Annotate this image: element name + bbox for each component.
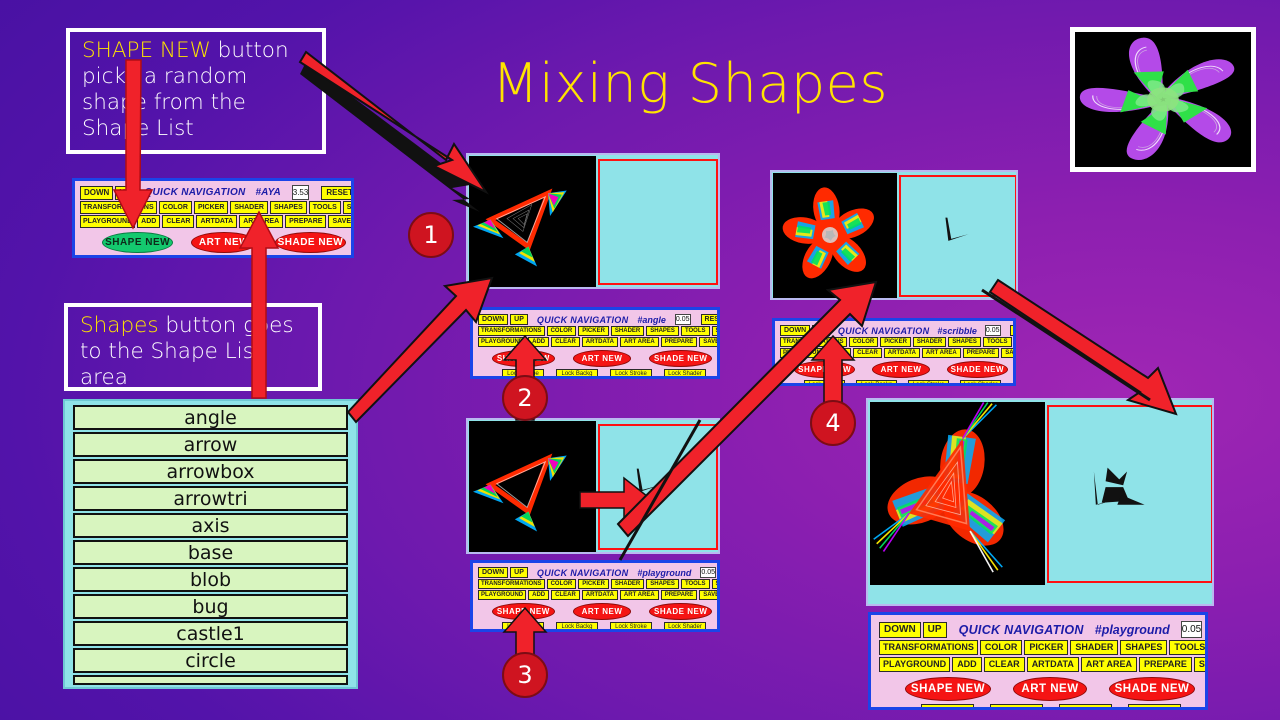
down-button[interactable]: DOWN <box>80 186 113 200</box>
art-new-button[interactable]: ART NEW <box>191 232 257 253</box>
lock-stroke-button[interactable]: Lock Stroke <box>610 622 652 632</box>
lock-backg-button[interactable]: Lock Backg <box>856 380 897 386</box>
nav-artdata[interactable]: ARTDATA <box>582 337 618 347</box>
lock-shader-button[interactable]: Lock Shader <box>664 622 706 632</box>
nav-add[interactable]: ADD <box>137 215 160 228</box>
art-canvas-4-svg <box>773 173 897 300</box>
quick-navigation-row: DOWN UP QUICK NAVIGATION #scribble 0.05 … <box>780 325 1008 336</box>
panel-hashtag: #playground <box>637 568 691 578</box>
nav-color[interactable]: COLOR <box>849 337 879 347</box>
nav-shapes[interactable]: SHAPES <box>1120 640 1167 655</box>
lock-button-row: Lock Shape Lock Backg Lock Stroke Lock S… <box>80 256 346 258</box>
shape-list-item[interactable]: circle <box>73 648 348 673</box>
shape-list-item[interactable]: blob <box>73 567 348 592</box>
shape-new-button[interactable]: SHAPE NEW <box>905 677 991 701</box>
quick-navigation-row: DOWN UP QUICK NAVIGATION #AYA 3.53 RESET <box>80 185 346 200</box>
value-field[interactable]: 0.05 <box>985 325 1001 336</box>
nav-row-1: TRANSFORMATIONS COLOR PICKER SHADER SHAP… <box>780 337 1008 347</box>
nav-stage[interactable]: STAGE <box>1014 337 1017 347</box>
nav-playground[interactable]: PLAYGROUND <box>879 657 950 672</box>
step-badge-2: 2 <box>502 375 548 421</box>
nav-art-area[interactable]: ART AREA <box>620 590 659 600</box>
art-stage-4[interactable] <box>899 175 1017 297</box>
nav-save-art[interactable]: SAVE ART <box>328 215 354 228</box>
lock-backg-button[interactable]: Lock Backg <box>177 256 225 258</box>
nav-clear[interactable]: CLEAR <box>551 337 580 347</box>
lock-backg-button[interactable]: Lock Backg <box>556 369 598 379</box>
nav-artdata[interactable]: ARTDATA <box>196 215 237 228</box>
art-canvas-3[interactable] <box>469 421 596 554</box>
down-button[interactable]: DOWN <box>879 622 921 638</box>
step-badge-4: 4 <box>810 400 856 446</box>
lock-button-row: Lock Shape Lock Backg Lock Stroke Lock S… <box>879 704 1197 710</box>
art-canvas-1-svg <box>469 156 596 289</box>
art-stage-3[interactable] <box>598 424 718 550</box>
control-panel-5[interactable]: DOWN UP QUICK NAVIGATION #playground 0.0… <box>868 612 1208 710</box>
up-button[interactable]: UP <box>510 314 528 325</box>
art-panel-5[interactable] <box>866 398 1214 606</box>
nav-picker[interactable]: PICKER <box>578 579 609 589</box>
art-canvas-4[interactable] <box>773 173 897 300</box>
nav-color[interactable]: COLOR <box>980 640 1023 655</box>
art-stage-1[interactable] <box>598 159 718 285</box>
nav-picker[interactable]: PICKER <box>578 326 609 336</box>
lock-button-row: Lock Shape Lock Backg Lock Stroke Lock S… <box>478 622 712 632</box>
down-button[interactable]: DOWN <box>478 567 508 578</box>
art-stage-5-svg <box>1049 407 1211 581</box>
art-canvas-5[interactable] <box>870 402 1045 585</box>
shape-list-item[interactable]: axis <box>73 513 348 538</box>
down-button[interactable]: DOWN <box>780 325 810 336</box>
nav-transformations[interactable]: TRANSFORMATIONS <box>879 640 978 655</box>
nav-row-1: TRANSFORMATIONS COLOR PICKER SHADER SHAP… <box>879 640 1197 655</box>
nav-shapes[interactable]: SHAPES <box>270 201 307 214</box>
lock-button-row: Lock Shape Lock Backg Lock Stroke Lock S… <box>780 380 1008 386</box>
nav-clear[interactable]: CLEAR <box>984 657 1025 672</box>
art-panel-4[interactable] <box>770 170 1018 300</box>
art-stage-3-svg <box>600 426 716 548</box>
lock-stroke-button[interactable]: Lock Stroke <box>1059 704 1112 710</box>
action-button-row: SHAPE NEW ART NEW SHADE NEW <box>478 603 712 620</box>
nav-prepare[interactable]: PREPARE <box>963 348 1000 358</box>
nav-transformations[interactable]: TRANSFORMATIONS <box>80 201 157 214</box>
shape-list-item[interactable]: bug <box>73 594 348 619</box>
nav-row-2: PLAYGROUND ADD CLEAR ARTDATA ART AREA PR… <box>80 215 346 228</box>
lock-shape-button[interactable]: Lock Shape <box>921 704 974 710</box>
shade-new-button[interactable]: SHADE NEW <box>649 603 712 620</box>
up-button[interactable]: UP <box>510 567 528 578</box>
nav-tools[interactable]: TOOLS <box>309 201 341 214</box>
nav-save-art[interactable]: SAVE ART <box>699 337 720 347</box>
nav-add[interactable]: ADD <box>528 590 549 600</box>
nav-playground[interactable]: PLAYGROUND <box>780 348 828 358</box>
reset-button[interactable]: RESET <box>321 186 354 200</box>
nav-clear[interactable]: CLEAR <box>853 348 882 358</box>
shape-list-item-partial[interactable] <box>73 675 348 685</box>
nav-row-2: PLAYGROUND ADD CLEAR ARTDATA ART AREA PR… <box>780 348 1008 358</box>
value-field[interactable]: 0.05 <box>700 567 716 578</box>
quick-navigation-title: QUICK NAVIGATION <box>144 187 245 198</box>
nav-picker[interactable]: PICKER <box>880 337 911 347</box>
lock-shape-button[interactable]: Lock Shape <box>804 380 845 386</box>
control-panel-3[interactable]: DOWN UP QUICK NAVIGATION #playground 0.0… <box>470 560 720 632</box>
shape-list-item[interactable]: arrow <box>73 432 348 457</box>
quick-navigation-title: QUICK NAVIGATION <box>838 326 929 336</box>
shade-new-button[interactable]: SHADE NEW <box>649 350 712 367</box>
lock-shape-button[interactable]: Lock Shape <box>116 256 164 258</box>
nav-save-art[interactable]: SAVE ART <box>1194 657 1208 672</box>
art-stage-1-svg <box>600 161 716 283</box>
quick-navigation-row: DOWN UP QUICK NAVIGATION #angle 0.05 RES… <box>478 314 712 325</box>
nav-tools[interactable]: TOOLS <box>681 579 710 589</box>
action-button-row: SHAPE NEW ART NEW SHADE NEW <box>478 350 712 367</box>
nav-shapes[interactable]: SHAPES <box>948 337 981 347</box>
nav-shapes[interactable]: SHAPES <box>646 326 679 336</box>
nav-prepare[interactable]: PREPARE <box>661 337 698 347</box>
quick-navigation-row: DOWN UP QUICK NAVIGATION #playground 0.0… <box>879 621 1197 638</box>
value-field[interactable]: 0.05 <box>675 314 691 325</box>
step-badge-1: 1 <box>408 212 454 258</box>
lock-backg-button[interactable]: Lock Backg <box>556 622 598 632</box>
nav-transformations[interactable]: TRANSFORMATIONS <box>780 337 847 347</box>
shape-list-item[interactable]: arrowbox <box>73 459 348 484</box>
value-field[interactable]: 0.05 <box>1181 621 1202 638</box>
nav-shader[interactable]: SHADER <box>1070 640 1118 655</box>
nav-row-2: PLAYGROUND ADD CLEAR ARTDATA ART AREA PR… <box>478 590 712 600</box>
reset-button[interactable]: RESET <box>1010 325 1016 336</box>
panel-hashtag: #playground <box>1095 623 1170 637</box>
quick-navigation-title: QUICK NAVIGATION <box>959 623 1084 637</box>
shape-new-button[interactable]: SHAPE NEW <box>794 361 855 378</box>
step-badge-3: 3 <box>502 652 548 698</box>
art-panel-1[interactable] <box>466 153 720 289</box>
art-new-button[interactable]: ART NEW <box>573 350 632 367</box>
callout-shape-new-highlight: SHAPE NEW <box>82 38 211 63</box>
nav-color[interactable]: COLOR <box>547 326 577 336</box>
shape-list-item[interactable]: arrowtri <box>73 486 348 511</box>
nav-add[interactable]: ADD <box>528 337 549 347</box>
callout-shapes-button: Shapes button goes to the Shape List are… <box>64 303 322 391</box>
nav-add[interactable]: ADD <box>952 657 982 672</box>
page-title: Mixing Shapes <box>455 52 925 115</box>
nav-tools[interactable]: TOOLS <box>1169 640 1208 655</box>
quick-navigation-title: QUICK NAVIGATION <box>537 568 628 578</box>
nav-tools[interactable]: TOOLS <box>983 337 1012 347</box>
down-button[interactable]: DOWN <box>478 314 508 325</box>
nav-transformations[interactable]: TRANSFORMATIONS <box>478 579 545 589</box>
lock-shader-button[interactable]: Lock Shader <box>298 256 346 258</box>
slide-root: Mixing Shapes SHAPE NEW button picks a r… <box>0 0 1280 720</box>
art-stage-5[interactable] <box>1047 405 1213 583</box>
panel-hashtag: #scribble <box>937 326 977 336</box>
control-panel-2[interactable]: DOWN UP QUICK NAVIGATION #angle 0.05 RES… <box>470 307 720 379</box>
nav-transformations[interactable]: TRANSFORMATIONS <box>478 326 545 336</box>
nav-row-1: TRANSFORMATIONS COLOR PICKER SHADER SHAP… <box>478 579 712 589</box>
up-button[interactable]: UP <box>115 186 134 200</box>
nav-shapes[interactable]: SHAPES <box>646 579 679 589</box>
lock-stroke-button[interactable]: Lock Stroke <box>908 380 949 386</box>
nav-stage[interactable]: STAGE <box>712 326 721 336</box>
art-canvas-1[interactable] <box>469 156 596 289</box>
up-button[interactable]: UP <box>923 622 947 638</box>
quick-navigation-title: QUICK NAVIGATION <box>537 315 628 325</box>
nav-stage[interactable]: STAGE <box>712 579 721 589</box>
nav-color[interactable]: COLOR <box>547 579 577 589</box>
quick-navigation-row: DOWN UP QUICK NAVIGATION #playground 0.0… <box>478 567 712 578</box>
nav-save-art[interactable]: SAVE ART <box>699 590 720 600</box>
nav-tools[interactable]: TOOLS <box>681 326 710 336</box>
nav-prepare[interactable]: PREPARE <box>661 590 698 600</box>
lock-shape-button[interactable]: Lock Shape <box>502 622 544 632</box>
shape-list[interactable]: angle arrow arrowbox arrowtri axis base … <box>63 399 358 689</box>
nav-playground[interactable]: PLAYGROUND <box>80 215 135 228</box>
nav-art-area[interactable]: ART AREA <box>620 337 659 347</box>
action-button-row: SHAPE NEW ART NEW SHADE NEW <box>80 232 346 253</box>
control-panel-4[interactable]: DOWN UP QUICK NAVIGATION #scribble 0.05 … <box>772 318 1016 386</box>
action-button-row: SHAPE NEW ART NEW SHADE NEW <box>780 361 1008 378</box>
panel-hashtag: #AYA <box>256 187 281 198</box>
nav-shader[interactable]: SHADER <box>230 201 268 214</box>
art-stage-4-svg <box>901 177 1015 295</box>
shade-new-button[interactable]: SHADE NEW <box>275 232 346 253</box>
shape-new-button[interactable]: SHAPE NEW <box>492 603 555 620</box>
shade-new-button[interactable]: SHADE NEW <box>947 361 1008 378</box>
nav-stage[interactable]: STAGE <box>343 201 354 214</box>
art-new-button[interactable]: ART NEW <box>573 603 632 620</box>
lock-shader-button[interactable]: Lock Shader <box>960 380 1001 386</box>
shade-new-button[interactable]: SHADE NEW <box>1109 677 1195 701</box>
nav-row-1: TRANSFORMATIONS COLOR PICKER SHADER SHAP… <box>80 201 346 214</box>
lock-stroke-button[interactable]: Lock Stroke <box>610 369 652 379</box>
up-button[interactable]: UP <box>812 325 830 336</box>
nav-clear[interactable]: CLEAR <box>162 215 194 228</box>
action-button-row: SHAPE NEW ART NEW SHADE NEW <box>879 677 1197 701</box>
nav-shader[interactable]: SHADER <box>913 337 946 347</box>
callout-shape-new: SHAPE NEW button picks a random shape fr… <box>66 28 326 154</box>
art-new-button[interactable]: ART NEW <box>872 361 929 378</box>
nav-art-area[interactable]: ART AREA <box>922 348 961 358</box>
nav-row-2: PLAYGROUND ADD CLEAR ARTDATA ART AREA PR… <box>879 657 1197 672</box>
nav-shader[interactable]: SHADER <box>611 326 644 336</box>
nav-clear[interactable]: CLEAR <box>551 590 580 600</box>
nav-artdata[interactable]: ARTDATA <box>582 590 618 600</box>
nav-playground[interactable]: PLAYGROUND <box>478 337 526 347</box>
reset-button[interactable]: RESET <box>701 314 720 325</box>
nav-picker[interactable]: PICKER <box>1024 640 1068 655</box>
nav-add[interactable]: ADD <box>830 348 851 358</box>
shape-new-button[interactable]: SHAPE NEW <box>492 350 555 367</box>
lock-backg-button[interactable]: Lock Backg <box>990 704 1043 710</box>
nav-color[interactable]: COLOR <box>159 201 192 214</box>
nav-save-art[interactable]: SAVE ART <box>1001 348 1016 358</box>
artwork-thumbnail <box>1070 27 1256 172</box>
shape-list-item[interactable]: angle <box>73 405 348 430</box>
nav-row-1: TRANSFORMATIONS COLOR PICKER SHADER SHAP… <box>478 326 712 336</box>
control-panel-1[interactable]: DOWN UP QUICK NAVIGATION #AYA 3.53 RESET… <box>72 178 354 258</box>
nav-prepare[interactable]: PREPARE <box>1139 657 1192 672</box>
nav-picker[interactable]: PICKER <box>194 201 228 214</box>
shape-new-button[interactable]: SHAPE NEW <box>102 232 173 253</box>
thumbnail-artwork-svg <box>1075 32 1251 167</box>
callout-shapes-button-highlight: Shapes <box>80 313 159 338</box>
nav-art-area[interactable]: ART AREA <box>239 215 283 228</box>
art-panel-3[interactable] <box>466 418 720 554</box>
lock-stroke-button[interactable]: Lock Stroke <box>238 256 286 258</box>
nav-artdata[interactable]: ARTDATA <box>884 348 920 358</box>
panel-hashtag: #angle <box>637 315 666 325</box>
shape-list-item[interactable]: base <box>73 540 348 565</box>
lock-shader-button[interactable]: Lock Shader <box>1128 704 1181 710</box>
nav-playground[interactable]: PLAYGROUND <box>478 590 526 600</box>
nav-prepare[interactable]: PREPARE <box>285 215 326 228</box>
nav-art-area[interactable]: ART AREA <box>1081 657 1137 672</box>
art-canvas-5-svg <box>870 402 1045 585</box>
art-new-button[interactable]: ART NEW <box>1013 677 1087 701</box>
nav-shader[interactable]: SHADER <box>611 579 644 589</box>
nav-row-2: PLAYGROUND ADD CLEAR ARTDATA ART AREA PR… <box>478 337 712 347</box>
nav-artdata[interactable]: ARTDATA <box>1027 657 1079 672</box>
shape-list-item[interactable]: castle1 <box>73 621 348 646</box>
art-canvas-3-svg <box>469 421 596 554</box>
value-field[interactable]: 3.53 <box>292 185 310 200</box>
lock-shader-button[interactable]: Lock Shader <box>664 369 706 379</box>
